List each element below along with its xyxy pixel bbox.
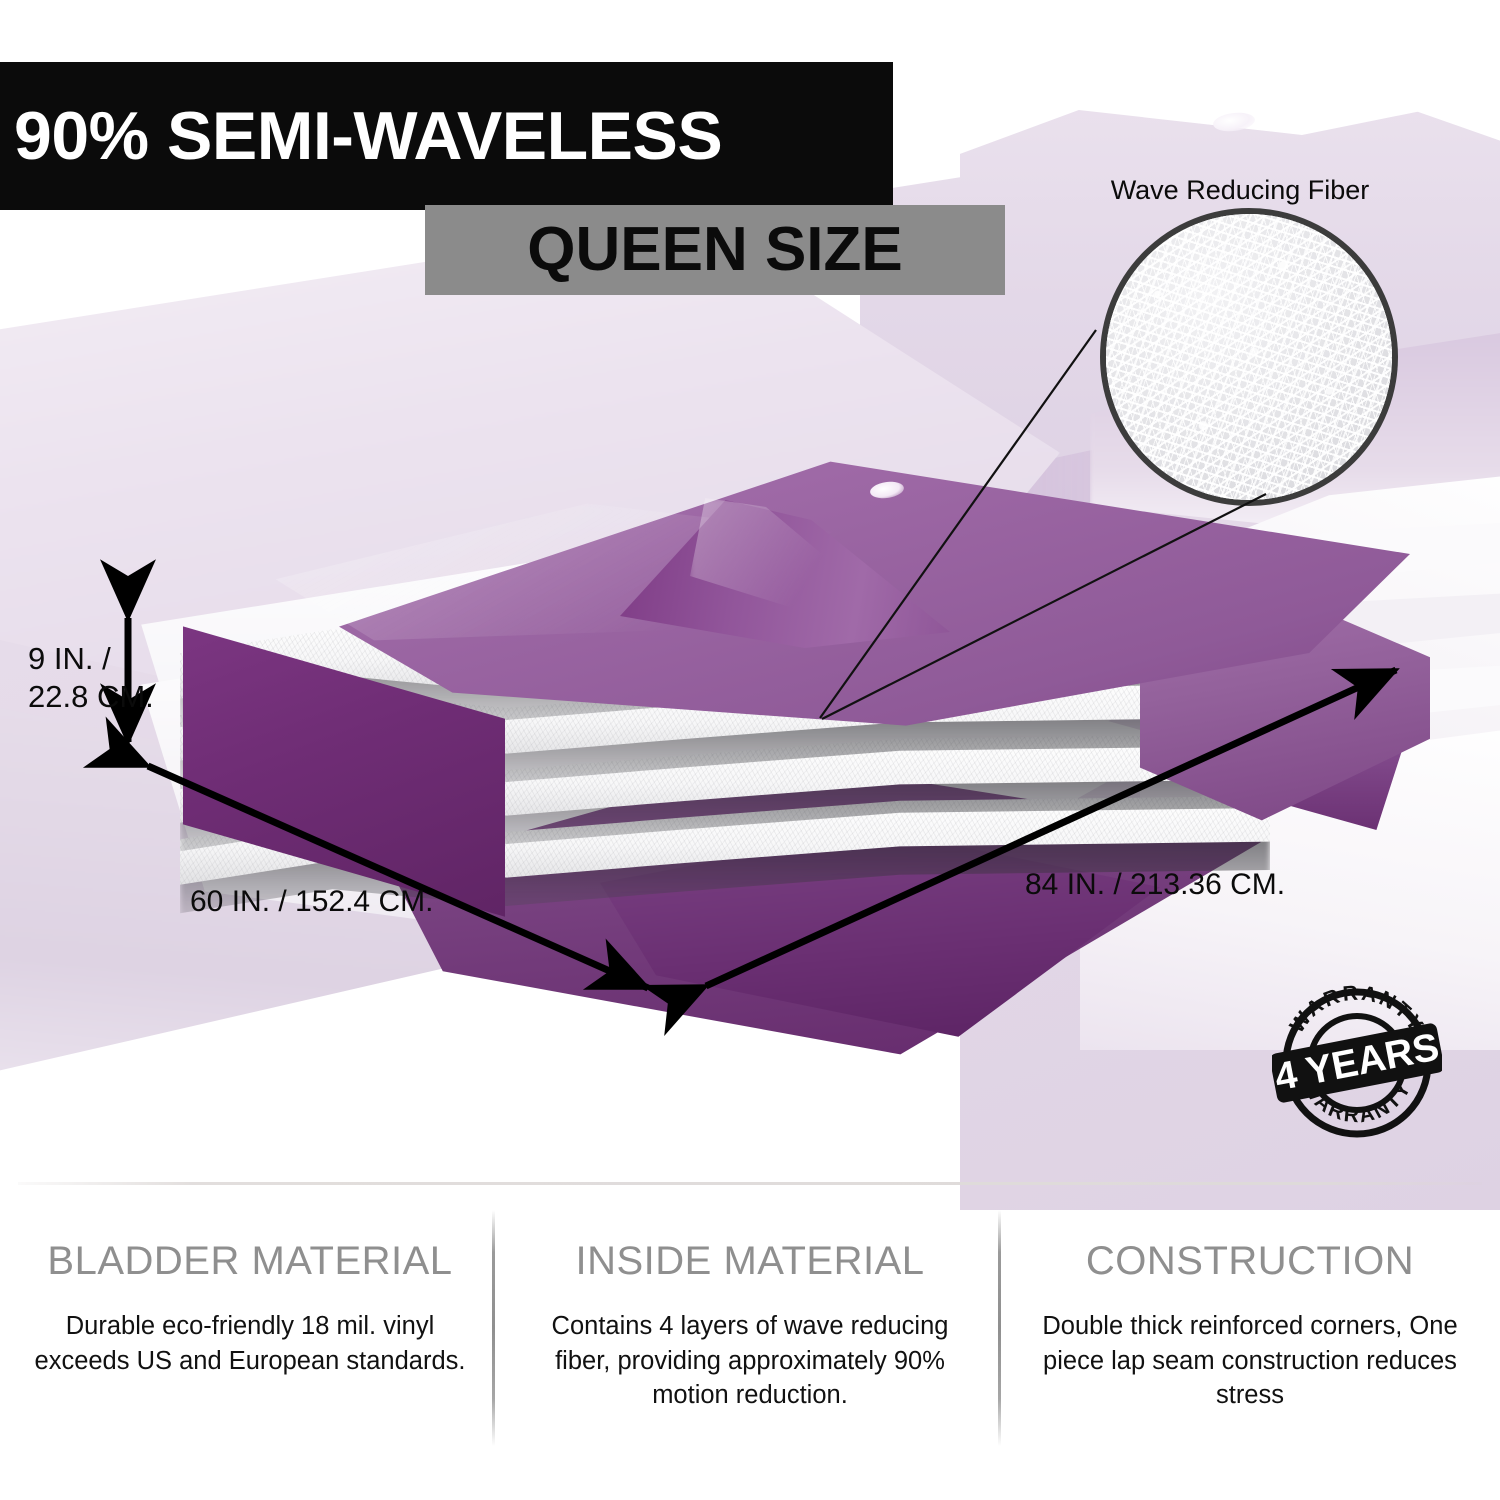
feature-body: Durable eco-friendly 18 mil. vinyl excee… [34, 1309, 466, 1378]
width-dimension-arrow [148, 766, 648, 988]
feature-column-bladder-material: BLADDER MATERIAL Durable eco-friendly 18… [0, 1215, 500, 1475]
fiber-leader-lines [820, 330, 1266, 719]
warranty-stamp: WARRANTY WARRANTY 4 YEARS [1272, 978, 1442, 1148]
product-infographic: 90% SEMI-WAVELESS QUEEN SIZE Wave Reduci… [0, 0, 1500, 1500]
feature-column-inside-material: INSIDE MATERIAL Contains 4 layers of wav… [500, 1215, 1000, 1475]
feature-body: Double thick reinforced corners, One pie… [1034, 1309, 1466, 1413]
width-dimension-label: 60 IN. / 152.4 CM. [190, 885, 433, 919]
feature-heading: INSIDE MATERIAL [534, 1241, 966, 1281]
height-dimension-label: 9 IN. / 22.8 CM. [28, 640, 148, 717]
feature-columns: BLADDER MATERIAL Durable eco-friendly 18… [0, 1215, 1500, 1475]
length-dimension-label: 84 IN. / 213.36 CM. [1025, 868, 1285, 902]
feature-heading: BLADDER MATERIAL [34, 1241, 466, 1281]
length-dimension-arrow [706, 670, 1396, 986]
feature-body: Contains 4 layers of wave reducing fiber… [534, 1309, 966, 1413]
height-dimension-line1: 9 IN. / [28, 640, 148, 678]
warranty-banner: 4 YEARS [1272, 1022, 1442, 1104]
feature-heading: CONSTRUCTION [1034, 1241, 1466, 1281]
height-dimension-line2: 22.8 CM. [28, 678, 148, 716]
section-divider [18, 1182, 1482, 1185]
feature-column-construction: CONSTRUCTION Double thick reinforced cor… [1000, 1215, 1500, 1475]
